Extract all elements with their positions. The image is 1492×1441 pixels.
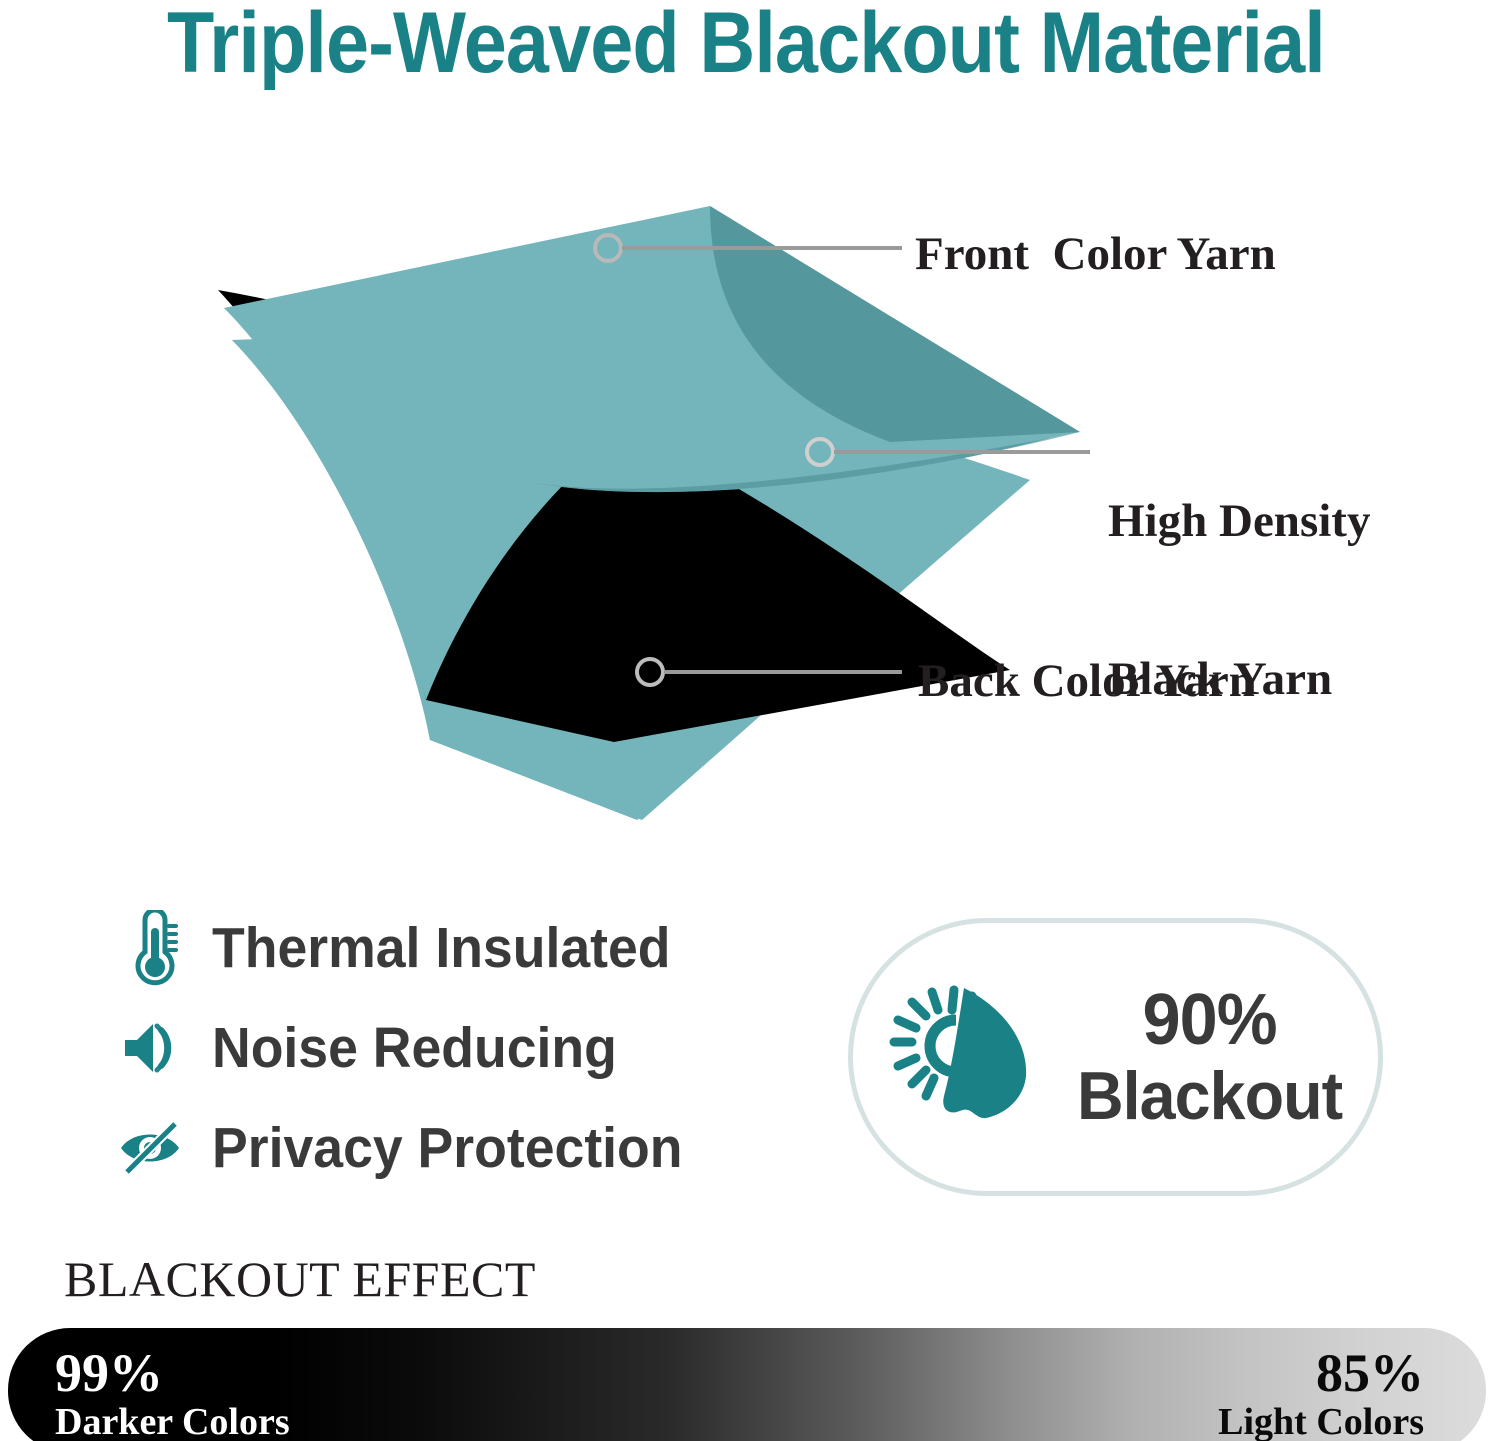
blackout-percent: 90% xyxy=(1077,984,1342,1056)
darker-colors-caption: Darker Colors xyxy=(55,1403,290,1441)
blackout-word: Blackout xyxy=(1077,1062,1342,1130)
layer-label-black-yarn-line1: High Density xyxy=(1108,495,1370,548)
feature-label-thermal-insulated: Thermal Insulated xyxy=(212,915,671,981)
feature-label-noise-reducing: Noise Reducing xyxy=(212,1015,617,1081)
feature-label-privacy-protection: Privacy Protection xyxy=(212,1115,682,1181)
feature-row-thermal-insulated: Thermal Insulated xyxy=(112,898,812,998)
blackout-effect-heading: BLACKOUT EFFECT xyxy=(64,1250,536,1308)
blackout-badge-text: 90% Blackout xyxy=(1070,984,1349,1130)
light-colors-caption: Light Colors xyxy=(1218,1403,1424,1441)
product-infographic: Triple-Weaved Blackout Material xyxy=(0,0,1492,1441)
gradient-label-darker-colors: 99% Darker Colors xyxy=(55,1346,290,1441)
blackout-badge: 90% Blackout xyxy=(848,918,1383,1196)
light-colors-percent: 85% xyxy=(1218,1346,1424,1401)
sun-blocked-icon xyxy=(886,980,1036,1135)
feature-row-noise-reducing: Noise Reducing xyxy=(112,998,812,1098)
speaker-sound-icon xyxy=(112,1016,190,1080)
layer-label-black-yarn: High Density Black Yarn xyxy=(1108,390,1370,811)
layer-label-front-color-yarn: Front Color Yarn xyxy=(915,228,1276,281)
page-title: Triple-Weaved Blackout Material xyxy=(75,0,1418,93)
feature-list: Thermal Insulated Noise Reducing xyxy=(112,898,812,1198)
gradient-label-light-colors: 85% Light Colors xyxy=(1218,1346,1424,1441)
thermometer-icon xyxy=(112,910,190,986)
layer-label-back-color-yarn: Back Color Yarn xyxy=(918,655,1255,708)
darker-colors-percent: 99% xyxy=(55,1346,290,1401)
eye-off-icon xyxy=(112,1118,190,1178)
feature-row-privacy-protection: Privacy Protection xyxy=(112,1098,812,1198)
